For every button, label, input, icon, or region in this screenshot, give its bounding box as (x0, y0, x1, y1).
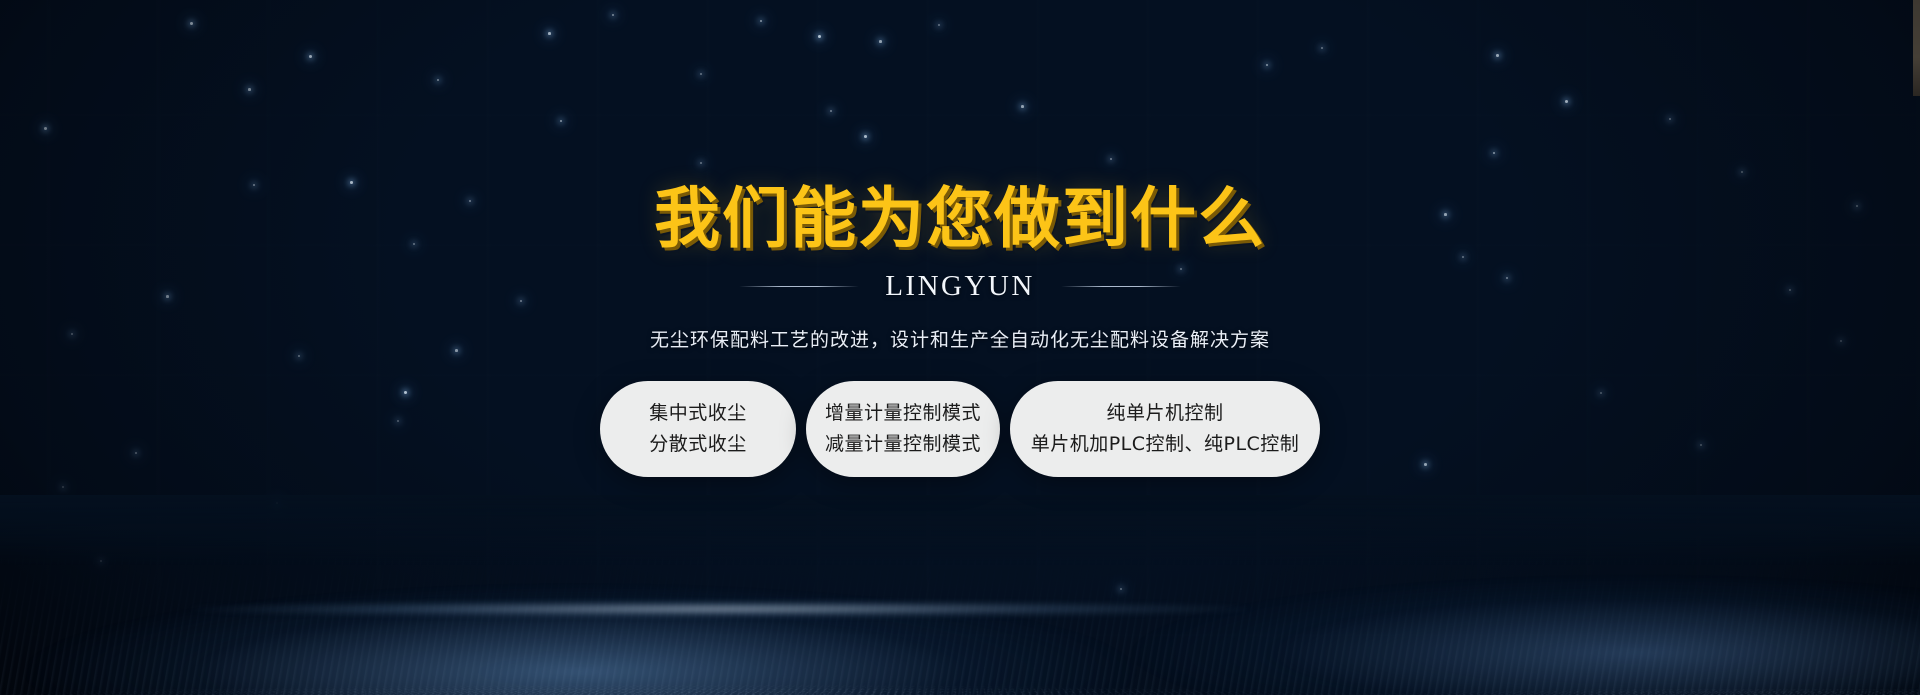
card-line-2: 分散式收尘 (649, 429, 747, 460)
brand-subtitle: LINGYUN (885, 270, 1035, 303)
banner-description: 无尘环保配料工艺的改进，设计和生产全自动化无尘配料设备解决方案 (650, 325, 1270, 352)
subtitle-row: LINGYUN (739, 270, 1181, 303)
card-line-1: 增量计量控制模式 (825, 398, 981, 429)
feature-card-list: 集中式收尘 分散式收尘 增量计量控制模式 减量计量控制模式 纯单片机控制 单片机… (600, 381, 1320, 477)
card-line-1: 纯单片机控制 (1106, 398, 1223, 429)
feature-card-control-system[interactable]: 纯单片机控制 单片机加PLC控制、纯PLC控制 (1010, 381, 1320, 477)
card-line-1: 集中式收尘 (649, 398, 747, 429)
card-line-2: 减量计量控制模式 (825, 429, 981, 460)
card-line-2: 单片机加PLC控制、纯PLC控制 (1031, 429, 1300, 460)
hero-banner: 我们能为您做到什么 LINGYUN 无尘环保配料工艺的改进，设计和生产全自动化无… (0, 0, 1920, 695)
banner-content: 我们能为您做到什么 LINGYUN 无尘环保配料工艺的改进，设计和生产全自动化无… (0, 0, 1920, 695)
right-edge-strip (1913, 0, 1920, 96)
divider-line-right (1061, 286, 1181, 287)
feature-card-dust-collection[interactable]: 集中式收尘 分散式收尘 (600, 381, 796, 477)
divider-line-left (739, 286, 859, 287)
page-title: 我们能为您做到什么 (654, 186, 1266, 252)
feature-card-metering-mode[interactable]: 增量计量控制模式 减量计量控制模式 (806, 381, 1000, 477)
